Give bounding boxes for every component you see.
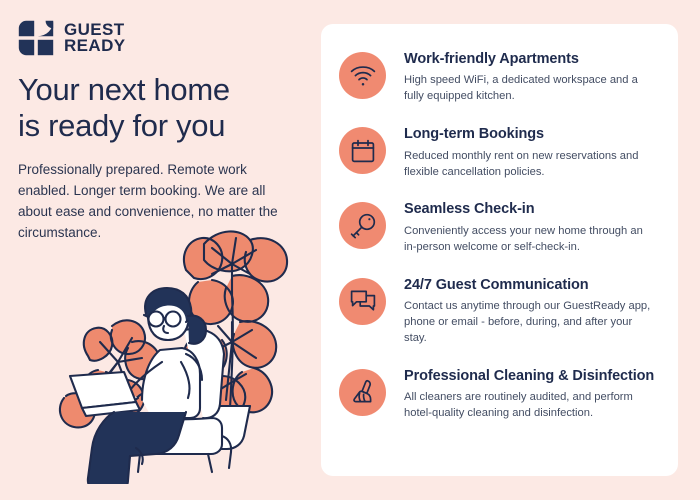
feature-card: Work-friendly Apartments High speed WiFi… <box>321 24 678 476</box>
calendar-icon <box>339 127 386 174</box>
feature-description: High speed WiFi, a dedicated workspace a… <box>404 73 656 105</box>
feature-description: Contact us anytime through our GuestRead… <box>404 299 656 347</box>
wifi-icon <box>339 52 386 99</box>
hero-column: GUEST READY Your next home is ready for … <box>0 0 320 500</box>
feature-title: Seamless Check-in <box>404 201 656 218</box>
feature-text: 24/7 Guest Communication Contact us anyt… <box>404 276 656 347</box>
key-icon <box>339 202 386 249</box>
feature-list: Work-friendly Apartments High speed WiFi… <box>339 50 660 422</box>
feature-description: All cleaners are routinely audited, and … <box>404 390 656 422</box>
broom-icon <box>339 369 386 416</box>
feature-item-cleaning-disinfection[interactable]: Professional Cleaning & Disinfection All… <box>339 367 660 422</box>
feature-description: Conveniently access your new home throug… <box>404 224 656 256</box>
feature-text: Work-friendly Apartments High speed WiFi… <box>404 50 656 105</box>
feature-item-seamless-check-in[interactable]: Seamless Check-in Conveniently access yo… <box>339 200 660 255</box>
chat-bubbles-icon <box>339 278 386 325</box>
feature-text: Professional Cleaning & Disinfection All… <box>404 367 656 422</box>
feature-item-guest-communication[interactable]: 24/7 Guest Communication Contact us anyt… <box>339 276 660 347</box>
feature-text: Long-term Bookings Reduced monthly rent … <box>404 125 656 180</box>
feature-item-long-term-bookings[interactable]: Long-term Bookings Reduced monthly rent … <box>339 125 660 180</box>
brand-logo[interactable]: GUEST READY <box>18 20 126 56</box>
feature-title: Long-term Bookings <box>404 126 656 143</box>
hero-headline: Your next home is ready for you <box>18 72 308 145</box>
brand-wordmark: GUEST READY <box>64 22 126 54</box>
feature-description: Reduced monthly rent on new reservations… <box>404 149 656 181</box>
feature-item-work-friendly-apartments[interactable]: Work-friendly Apartments High speed WiFi… <box>339 50 660 105</box>
feature-title: 24/7 Guest Communication <box>404 277 656 294</box>
marketing-banner: GUEST READY Your next home is ready for … <box>0 0 700 500</box>
brand-wordmark-line2: READY <box>64 38 126 54</box>
feature-title: Professional Cleaning & Disinfection <box>404 368 656 385</box>
feature-text: Seamless Check-in Conveniently access yo… <box>404 200 656 255</box>
feature-title: Work-friendly Apartments <box>404 51 656 68</box>
woman-with-laptop-in-armchair-with-plants-illustration <box>36 222 312 484</box>
guestready-quadrant-logo-icon <box>18 20 54 56</box>
